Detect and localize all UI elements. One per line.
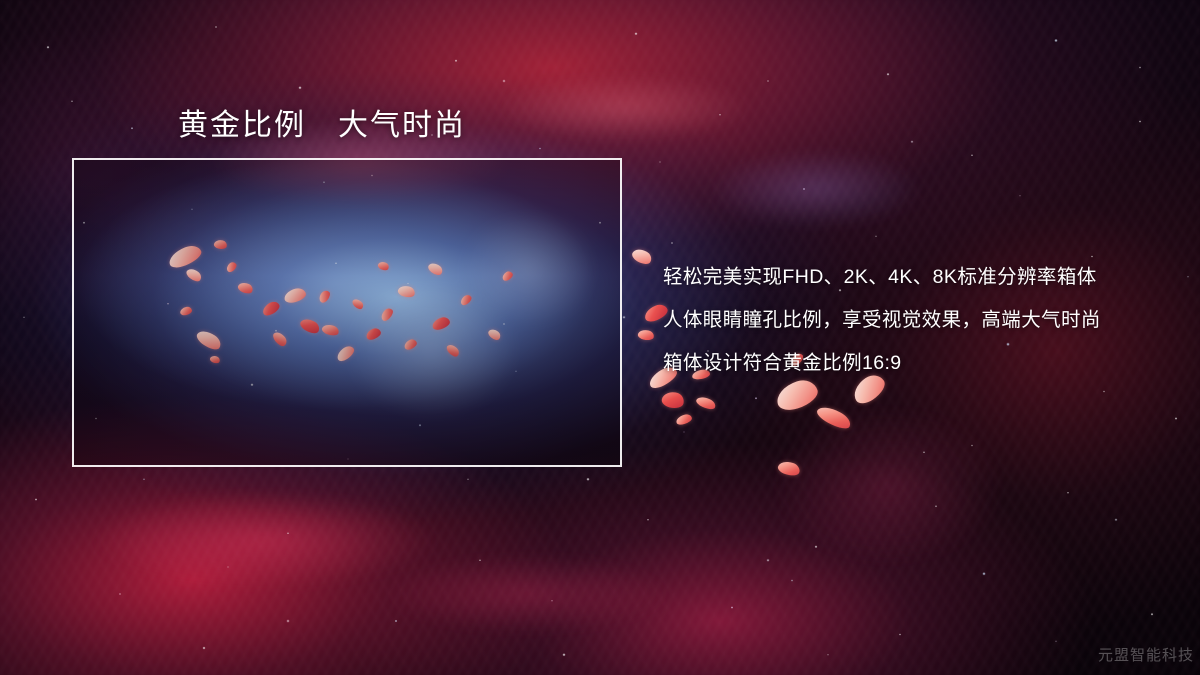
page-title: 黄金比例 大气时尚 [178,100,466,144]
petal [637,328,655,341]
petal [660,390,685,411]
body-line-2: 人体眼睛瞳孔比例，享受视觉效果，高端大气时尚 [663,299,1143,342]
petal [675,413,693,426]
body-copy: 轻松完美实现FHD、2K、4K、8K标准分辨率箱体 人体眼睛瞳孔比例，享受视觉效… [663,256,1143,385]
petal [815,402,854,432]
slide-canvas: 黄金比例 大气时尚 轻松完美实现FHD、2K、4K、8K标准分辨率箱体 人体眼睛… [0,0,1200,675]
frame-vignette [74,160,620,465]
body-line-1: 轻松完美实现FHD、2K、4K、8K标准分辨率箱体 [663,256,1143,299]
petal [777,459,802,478]
watermark: 元盟智能科技 [1098,644,1194,665]
golden-ratio-frame [72,158,622,467]
petal [630,246,654,267]
frame-content [74,160,620,465]
body-line-3: 箱体设计符合黄金比例16:9 [663,342,1143,385]
petal [695,394,717,411]
